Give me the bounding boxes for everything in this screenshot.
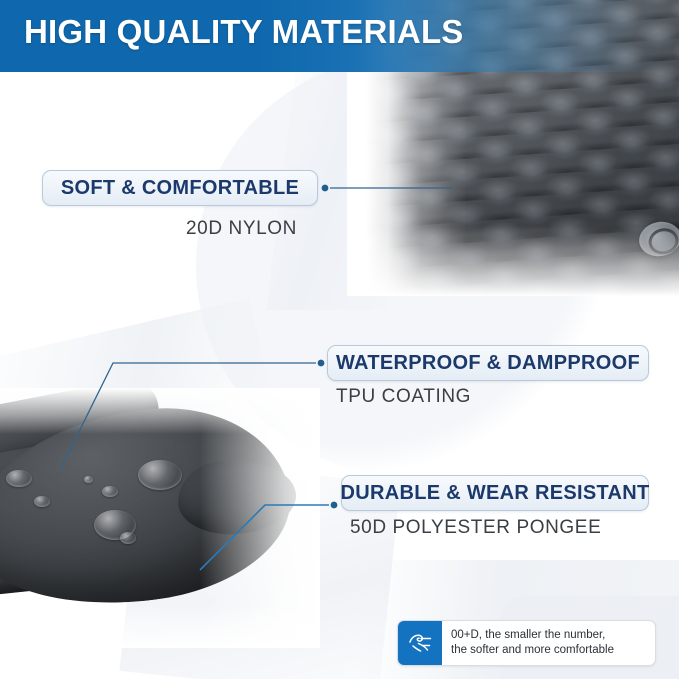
callout-label-durable-wear-resistant: DURABLE & WEAR RESISTANT: [340, 482, 649, 505]
callout-chip-soft-comfortable[interactable]: SOFT & COMFORTABLE: [42, 170, 318, 206]
water-droplet: [6, 470, 32, 487]
footnote-box: 00+D, the smaller the number, the softer…: [397, 620, 656, 666]
footnote-line-2: the softer and more comfortable: [451, 643, 614, 658]
water-droplet: [138, 460, 182, 490]
page-title: HIGH QUALITY MATERIALS: [24, 13, 464, 51]
callout-sublabel-soft-comfortable: 20D NYLON: [186, 218, 297, 240]
callout-label-soft-comfortable: SOFT & COMFORTABLE: [61, 177, 299, 200]
callout-chip-waterproof-dampproof[interactable]: WATERPROOF & DAMPPROOF: [327, 345, 649, 381]
callout-chip-durable-wear-resistant[interactable]: DURABLE & WEAR RESISTANT: [341, 475, 649, 511]
footnote-line-1: 00+D, the smaller the number,: [451, 628, 614, 643]
infographic-canvas: HIGH QUALITY MATERIALS SOFT & COMFORTABL…: [0, 0, 679, 679]
product-image-bottom: [0, 388, 320, 648]
water-droplet: [120, 532, 136, 544]
water-droplet: [34, 496, 50, 507]
water-droplet: [84, 476, 93, 483]
photo-bottom-fade: [0, 604, 320, 648]
photo-bottom-fade: [347, 226, 679, 296]
header-banner: HIGH QUALITY MATERIALS: [0, 0, 679, 72]
fabric-feel-icon: [398, 621, 442, 665]
footnote-text: 00+D, the smaller the number, the softer…: [442, 628, 614, 658]
callout-sublabel-waterproof-dampproof: TPU COATING: [336, 386, 471, 408]
callout-sublabel-durable-wear-resistant: 50D POLYESTER PONGEE: [350, 517, 601, 539]
water-droplet: [102, 486, 118, 497]
callout-label-waterproof-dampproof: WATERPROOF & DAMPPROOF: [336, 352, 640, 375]
